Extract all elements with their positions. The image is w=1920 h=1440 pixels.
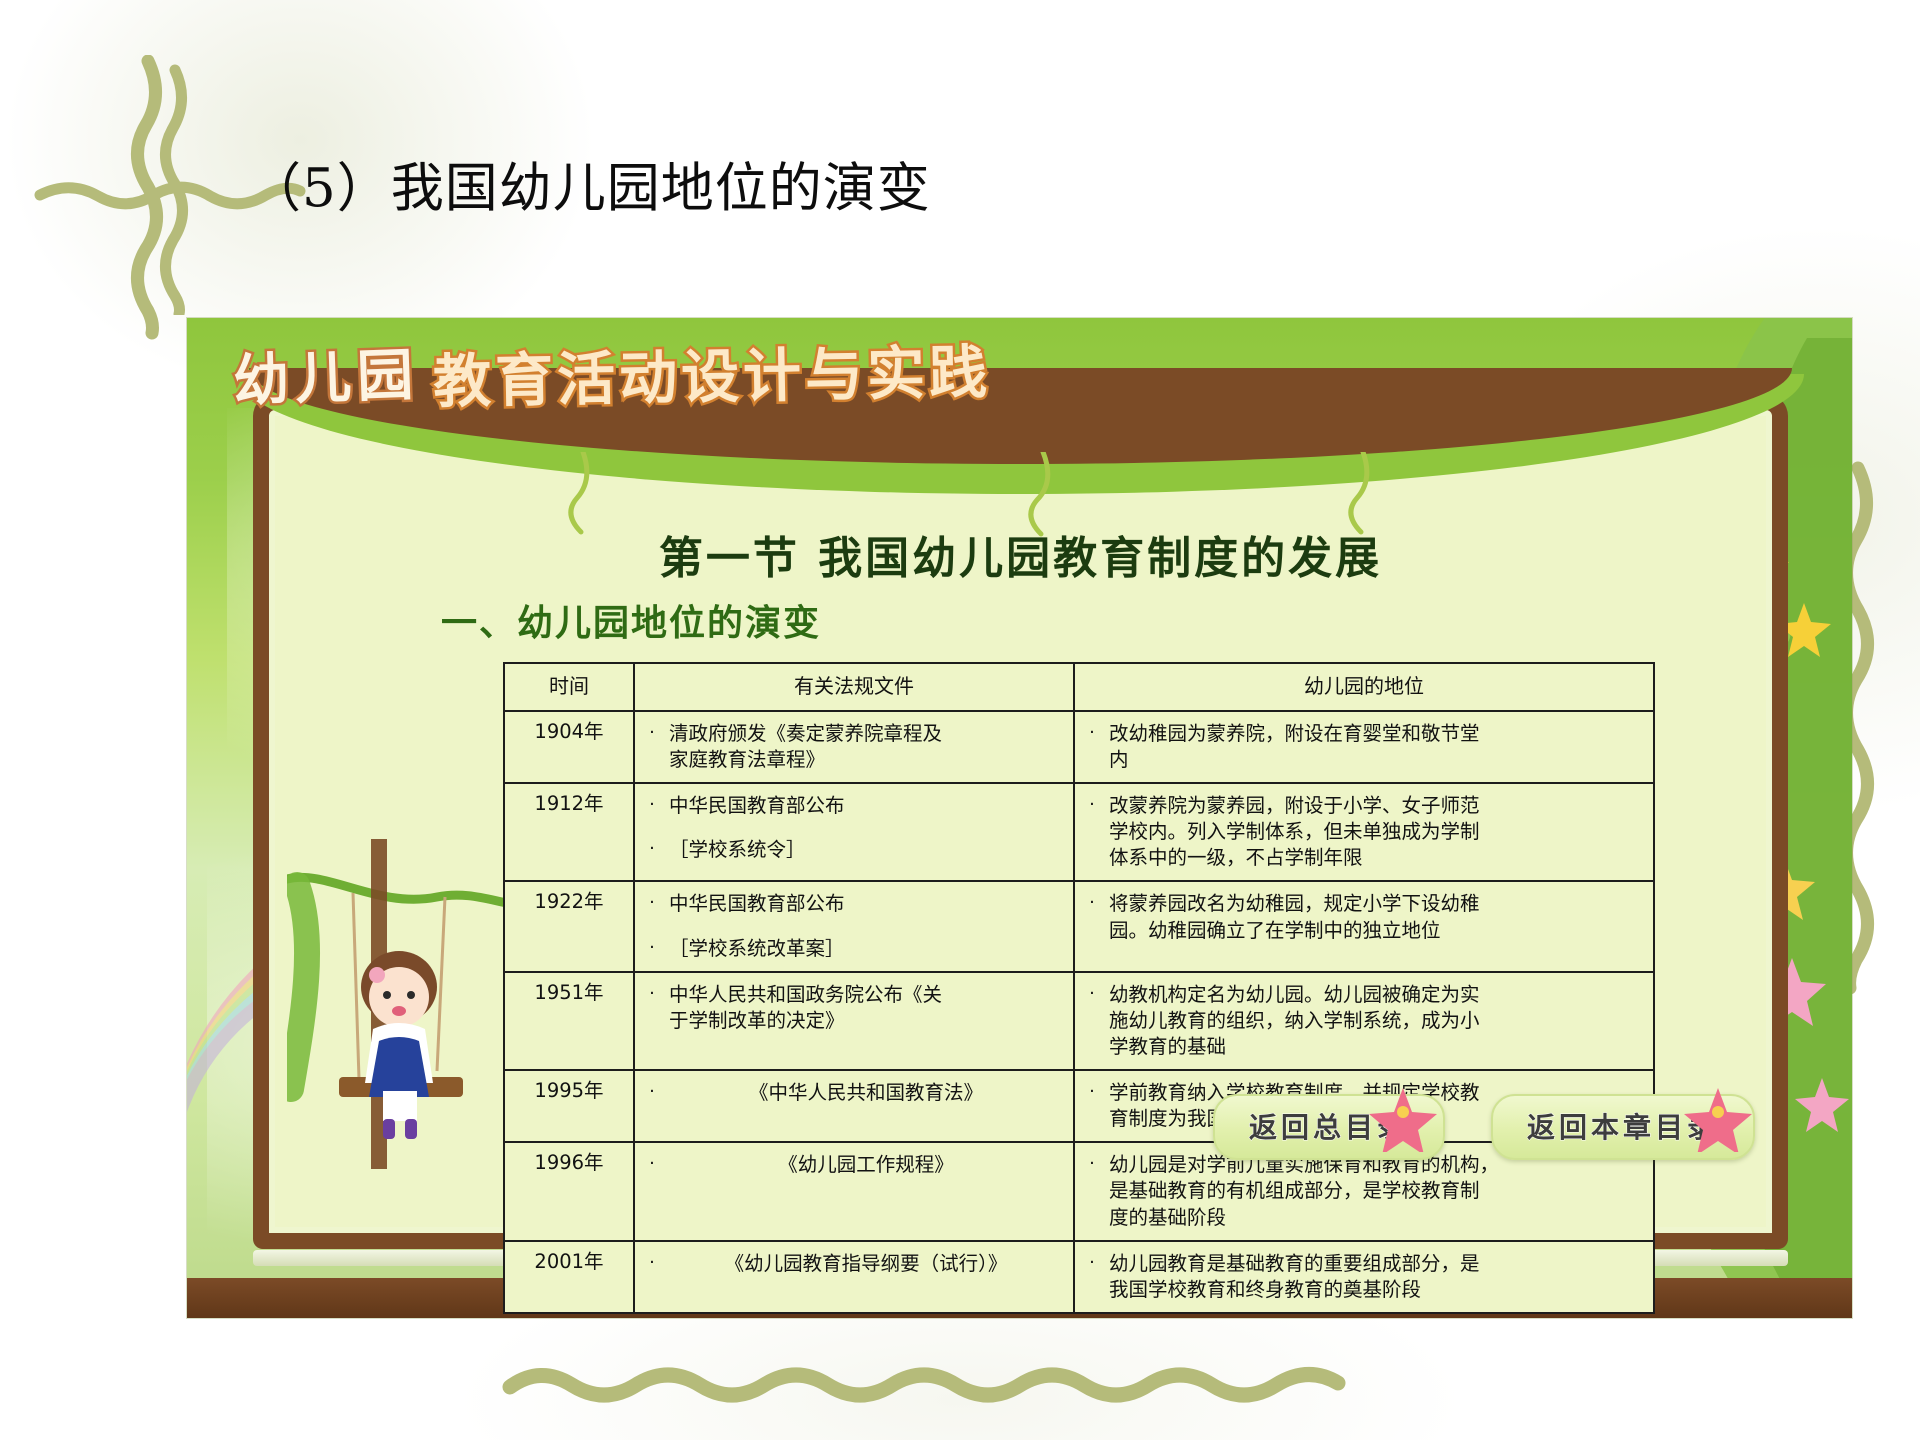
bullet-dot-icon: · bbox=[1075, 712, 1109, 745]
text-line: 清政府颁发《奏定蒙养院章程及 bbox=[669, 721, 1063, 747]
text-line: 家庭教育法章程》 bbox=[669, 747, 1063, 773]
cell-position: ·改幼稚园为蒙养院，附设在育婴堂和敬节堂内 bbox=[1074, 711, 1654, 783]
bullet-dot-icon: · bbox=[635, 712, 669, 745]
bullet-dot-icon: · bbox=[1075, 784, 1109, 817]
nav-button-row: 返回总目录 返回本章目录 bbox=[1213, 1094, 1755, 1160]
bullet-text: ［学校系统令］ bbox=[669, 828, 1073, 872]
bullet-line: ·将蒙养园改名为幼稚园，规定小学下设幼稚园。幼稚园确立了在学制中的独立地位 bbox=[1075, 882, 1653, 952]
bullet-line: ·清政府颁发《奏定蒙养院章程及家庭教育法章程》 bbox=[635, 712, 1073, 782]
text-line: 于学制改革的决定》 bbox=[669, 1008, 1063, 1034]
table-header-row: 时间 有关法规文件 幼儿园的地位 bbox=[504, 663, 1654, 711]
bullet-text: 《幼儿园工作规程》 bbox=[669, 1143, 1073, 1187]
bullet-line: ·《幼儿园教育指导纲要（试行）》 bbox=[635, 1242, 1073, 1286]
bullet-text: 中华民国教育部公布 bbox=[669, 882, 1073, 926]
cell-time: 1995年 bbox=[504, 1070, 634, 1142]
bullet-line: ·改幼稚园为蒙养院，附设在育婴堂和敬节堂内 bbox=[1075, 712, 1653, 782]
cell-time: 1922年 bbox=[504, 881, 634, 971]
return-to-main-contents-button[interactable]: 返回总目录 bbox=[1213, 1094, 1445, 1160]
bullet-line: ·［学校系统改革案］ bbox=[635, 927, 1073, 971]
text-line: 园。幼稚园确立了在学制中的独立地位 bbox=[1109, 918, 1643, 944]
bullet-text: 中华民国教育部公布 bbox=[669, 784, 1073, 828]
bullet-dot-icon: · bbox=[635, 828, 669, 861]
cell-position: ·幼儿园教育是基础教育的重要组成部分，是我国学校教育和终身教育的奠基阶段 bbox=[1074, 1241, 1654, 1313]
text-line: 内 bbox=[1109, 747, 1643, 773]
bullet-text: 清政府颁发《奏定蒙养院章程及家庭教育法章程》 bbox=[669, 712, 1073, 782]
bullet-dot-icon: · bbox=[635, 882, 669, 915]
bullet-text: ［学校系统改革案］ bbox=[669, 927, 1073, 971]
bullet-dot-icon: · bbox=[635, 1242, 669, 1275]
text-line: 学教育的基础 bbox=[1109, 1034, 1643, 1060]
return-to-chapter-contents-button[interactable]: 返回本章目录 bbox=[1491, 1094, 1755, 1160]
text-line: 幼教机构定名为幼儿园。幼儿园被确定为实 bbox=[1109, 982, 1643, 1008]
cell-document: ·《幼儿园工作规程》 bbox=[634, 1142, 1074, 1240]
cell-time: 1912年 bbox=[504, 783, 634, 881]
book-page: 第一节 我国幼儿园教育制度的发展 一、幼儿园地位的演变 bbox=[253, 394, 1788, 1249]
text-line: 改幼稚园为蒙养院，附设在育婴堂和敬节堂 bbox=[1109, 721, 1643, 747]
text-line: 《幼儿园教育指导纲要（试行）》 bbox=[669, 1251, 1063, 1277]
bullet-dot-icon: · bbox=[635, 927, 669, 960]
text-line: 《中华人民共和国教育法》 bbox=[669, 1080, 1063, 1106]
bullet-text: 幼儿园教育是基础教育的重要组成部分，是我国学校教育和终身教育的奠基阶段 bbox=[1109, 1242, 1653, 1312]
header-position: 幼儿园的地位 bbox=[1074, 663, 1654, 711]
cell-position: ·改蒙养院为蒙养园，附设于小学、女子师范学校内。列入学制体系，但未单独成为学制体… bbox=[1074, 783, 1654, 881]
bullet-dot-icon: · bbox=[1075, 1143, 1109, 1176]
text-line: 中华人民共和国政务院公布《关 bbox=[669, 982, 1063, 1008]
header-time: 时间 bbox=[504, 663, 634, 711]
bullet-dot-icon: · bbox=[1075, 973, 1109, 1006]
cell-time: 1996年 bbox=[504, 1142, 634, 1240]
bullet-text: 《幼儿园教育指导纲要（试行）》 bbox=[669, 1242, 1073, 1286]
cell-time: 1904年 bbox=[504, 711, 634, 783]
cell-position: ·将蒙养园改名为幼稚园，规定小学下设幼稚园。幼稚园确立了在学制中的独立地位 bbox=[1074, 881, 1654, 971]
bullet-line: ·《幼儿园工作规程》 bbox=[635, 1143, 1073, 1187]
text-line: 《幼儿园工作规程》 bbox=[669, 1152, 1063, 1178]
evolution-table-container: 时间 有关法规文件 幼儿园的地位 1904年·清政府颁发《奏定蒙养院章程及家庭教… bbox=[503, 662, 1653, 1314]
table-body: 1904年·清政府颁发《奏定蒙养院章程及家庭教育法章程》·改幼稚园为蒙养院，附设… bbox=[504, 711, 1654, 1313]
cell-time: 1951年 bbox=[504, 972, 634, 1070]
bullet-line: ·幼儿园教育是基础教育的重要组成部分，是我国学校教育和终身教育的奠基阶段 bbox=[1075, 1242, 1653, 1312]
bullet-dot-icon: · bbox=[1075, 882, 1109, 915]
text-line: 施幼儿教育的组织，纳入学制系统，成为小 bbox=[1109, 1008, 1643, 1034]
bullet-text: 幼教机构定名为幼儿园。幼儿园被确定为实施幼儿教育的组织，纳入学制系统，成为小学教… bbox=[1109, 973, 1653, 1069]
table-row: 1951年·中华人民共和国政务院公布《关于学制改革的决定》·幼教机构定名为幼儿园… bbox=[504, 972, 1654, 1070]
text-line: 度的基础阶段 bbox=[1109, 1205, 1643, 1231]
bullet-line: ·中华民国教育部公布 bbox=[635, 882, 1073, 926]
text-line: 幼儿园教育是基础教育的重要组成部分，是 bbox=[1109, 1251, 1643, 1277]
bullet-line: ·《中华人民共和国教育法》 bbox=[635, 1071, 1073, 1115]
slide-banner-title: 幼儿园 教育活动设计与实践 bbox=[233, 330, 991, 414]
banner-text-secondary: 教育活动设计与实践 bbox=[432, 325, 991, 419]
bullet-dot-icon: · bbox=[635, 1071, 669, 1104]
bullet-line: ·幼教机构定名为幼儿园。幼儿园被确定为实施幼儿教育的组织，纳入学制系统，成为小学… bbox=[1075, 973, 1653, 1069]
bullet-text: 《中华人民共和国教育法》 bbox=[669, 1071, 1073, 1115]
header-document: 有关法规文件 bbox=[634, 663, 1074, 711]
evolution-table: 时间 有关法规文件 幼儿园的地位 1904年·清政府颁发《奏定蒙养院章程及家庭教… bbox=[503, 662, 1655, 1314]
bullet-text: 中华人民共和国政务院公布《关于学制改革的决定》 bbox=[669, 973, 1073, 1043]
bullet-dot-icon: · bbox=[635, 784, 669, 817]
cell-document: ·《幼儿园教育指导纲要（试行）》 bbox=[634, 1241, 1074, 1313]
bullet-dot-icon: · bbox=[635, 973, 669, 1006]
embedded-slide-image: 第一节 我国幼儿园教育制度的发展 一、幼儿园地位的演变 bbox=[187, 318, 1852, 1318]
bullet-dot-icon: · bbox=[635, 1143, 669, 1176]
hanging-curls bbox=[253, 452, 1788, 572]
bullet-line: ·改蒙养院为蒙养园，附设于小学、女子师范学校内。列入学制体系，但未单独成为学制体… bbox=[1075, 784, 1653, 880]
cell-document: ·清政府颁发《奏定蒙养院章程及家庭教育法章程》 bbox=[634, 711, 1074, 783]
sub-section-title: 一、幼儿园地位的演变 bbox=[441, 594, 821, 646]
text-line: 将蒙养园改名为幼稚园，规定小学下设幼稚 bbox=[1109, 891, 1643, 917]
cell-document: ·《中华人民共和国教育法》 bbox=[634, 1070, 1074, 1142]
bullet-dot-icon: · bbox=[1075, 1242, 1109, 1275]
vine-decoration-left-edge bbox=[118, 55, 178, 375]
text-line: 我国学校教育和终身教育的奠基阶段 bbox=[1109, 1277, 1643, 1303]
text-line: 是基础教育的有机组成部分，是学校教育制 bbox=[1109, 1178, 1643, 1204]
bullet-text: 改幼稚园为蒙养院，附设在育婴堂和敬节堂内 bbox=[1109, 712, 1653, 782]
bullet-line: ·中华人民共和国政务院公布《关于学制改革的决定》 bbox=[635, 973, 1073, 1043]
text-line: 学校内。列入学制体系，但未单独成为学制 bbox=[1109, 819, 1643, 845]
bullet-dot-icon: · bbox=[1075, 1071, 1109, 1104]
bullet-line: ·［学校系统令］ bbox=[635, 828, 1073, 872]
bullet-line: ·中华民国教育部公布 bbox=[635, 784, 1073, 828]
table-row: 1904年·清政府颁发《奏定蒙养院章程及家庭教育法章程》·改幼稚园为蒙养院，附设… bbox=[504, 711, 1654, 783]
text-line: 改蒙养院为蒙养园，附设于小学、女子师范 bbox=[1109, 793, 1643, 819]
vine-decoration-bottom bbox=[500, 1355, 1600, 1415]
cell-position: ·幼教机构定名为幼儿园。幼儿园被确定为实施幼儿教育的组织，纳入学制系统，成为小学… bbox=[1074, 972, 1654, 1070]
table-row: 2001年·《幼儿园教育指导纲要（试行）》·幼儿园教育是基础教育的重要组成部分，… bbox=[504, 1241, 1654, 1313]
bullet-text: 将蒙养园改名为幼稚园，规定小学下设幼稚园。幼稚园确立了在学制中的独立地位 bbox=[1109, 882, 1653, 952]
cell-document: ·中华民国教育部公布·［学校系统改革案］ bbox=[634, 881, 1074, 971]
page-title: （5）我国幼儿园地位的演变 bbox=[248, 158, 931, 221]
banner-text-primary: 幼儿园 bbox=[232, 330, 421, 417]
cell-time: 2001年 bbox=[504, 1241, 634, 1313]
cell-document: ·中华民国教育部公布·［学校系统令］ bbox=[634, 783, 1074, 881]
table-row: 1912年·中华民国教育部公布·［学校系统令］·改蒙养院为蒙养园，附设于小学、女… bbox=[504, 783, 1654, 881]
text-line: 体系中的一级，不占学制年限 bbox=[1109, 845, 1643, 871]
bullet-text: 改蒙养院为蒙养园，附设于小学、女子师范学校内。列入学制体系，但未单独成为学制体系… bbox=[1109, 784, 1653, 880]
cell-document: ·中华人民共和国政务院公布《关于学制改革的决定》 bbox=[634, 972, 1074, 1070]
table-row: 1922年·中华民国教育部公布·［学校系统改革案］·将蒙养园改名为幼稚园，规定小… bbox=[504, 881, 1654, 971]
